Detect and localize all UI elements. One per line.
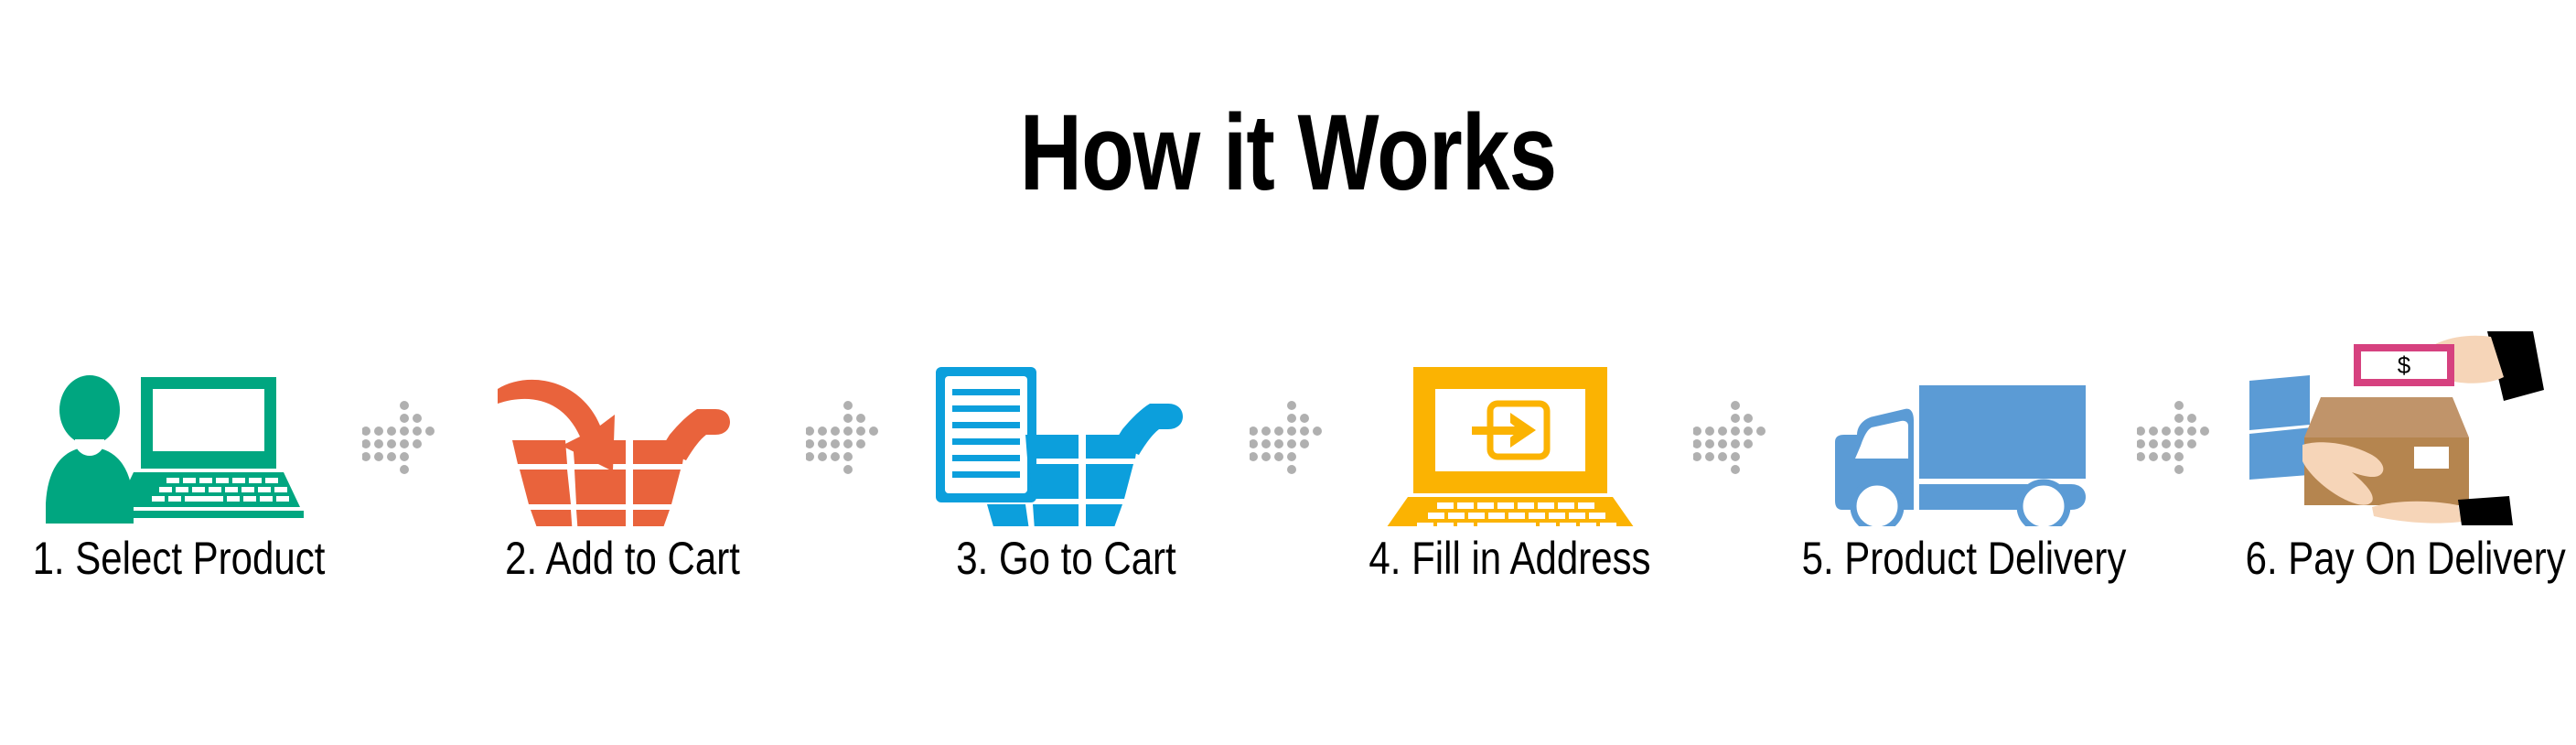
- person-with-laptop-icon: [0, 325, 360, 526]
- dotted-arrow-right-icon: [1250, 398, 1326, 475]
- step-4-label: 4. Fill in Address: [1358, 534, 1662, 583]
- document-with-cart-icon: [885, 325, 1247, 526]
- step-5-label: 5. Product Delivery: [1802, 534, 2106, 583]
- shopping-cart-with-arrow-icon: [442, 325, 803, 526]
- step-6-label: 6. Pay On Delivery: [2246, 534, 2549, 583]
- separator-3: [1247, 325, 1329, 599]
- step-6-pay-on-delivery[interactable]: $ 6. Pay On Delivery: [2216, 325, 2576, 599]
- money-bill: $: [2354, 344, 2454, 386]
- step-4-fill-in-address[interactable]: 4. Fill in Address: [1329, 325, 1690, 599]
- separator-1: [360, 325, 442, 599]
- dotted-arrow-right-icon: [2137, 398, 2214, 475]
- step-3-go-to-cart[interactable]: 3. Go to Cart: [885, 325, 1247, 599]
- dotted-arrow-right-icon: [362, 398, 439, 475]
- separator-2: [803, 325, 885, 599]
- laptop-with-login-arrow-icon: [1329, 325, 1690, 526]
- step-1-select-product[interactable]: 1. Select Product: [0, 325, 360, 599]
- step-2-label: 2. Add to Cart: [471, 534, 775, 583]
- delivery-truck-icon: [1773, 325, 2134, 526]
- step-3-label: 3. Go to Cart: [915, 534, 1218, 583]
- step-2-add-to-cart[interactable]: 2. Add to Cart: [442, 325, 803, 599]
- page-title: How it Works: [258, 99, 2319, 207]
- step-5-product-delivery[interactable]: 5. Product Delivery: [1773, 325, 2134, 599]
- separator-5: [2134, 325, 2216, 599]
- dotted-arrow-right-icon: [806, 398, 883, 475]
- step-1-label: 1. Select Product: [27, 534, 331, 583]
- steps-row: 1. Select Product: [0, 325, 2576, 599]
- separator-4: [1690, 325, 1773, 599]
- money-symbol: $: [2397, 351, 2410, 379]
- hands-exchanging-box-and-money-icon: $: [2216, 325, 2576, 526]
- dotted-arrow-right-icon: [1693, 398, 1770, 475]
